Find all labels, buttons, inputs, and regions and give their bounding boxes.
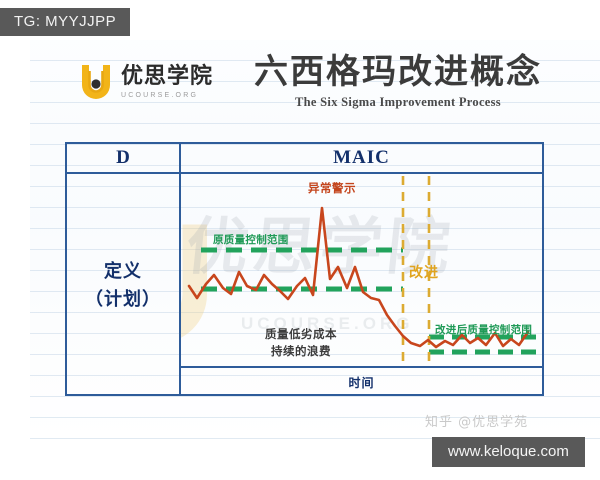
page-title: 六西格玛改进概念 (238, 54, 558, 91)
slide-header: 优思学院 UCOURSE.ORG 六西格玛改进概念 The Six Sigma … (0, 40, 600, 132)
column-header-d: D (67, 144, 181, 172)
column-header-maic: MAIC (181, 144, 542, 172)
define-label-line2: （计划） (85, 285, 161, 311)
annotation-abnormal-alert: 异常警示 (308, 180, 356, 196)
chart-body-row: 定义 （计划） 优思学院 UCOURSE.ORG (67, 174, 542, 394)
annotation-improved-control-range: 改进后质量控制范围 (435, 322, 532, 337)
six-sigma-chart: D MAIC 定义 （计划） 优思学院 UCOURSE.ORG (65, 142, 544, 396)
annotation-original-control-range: 原质量控制范围 (213, 232, 289, 247)
annotation-poor-quality-cost-line1: 质量低劣成本 (265, 326, 337, 343)
brand-logo: 优思学院 UCOURSE.ORG (78, 62, 213, 102)
annotation-poor-quality-cost: 质量低劣成本 持续的浪费 (265, 326, 337, 359)
tg-watermark-banner: TG: MYYJJPP (0, 8, 130, 36)
define-label-line1: 定义 (104, 257, 142, 283)
title-block: 六西格玛改进概念 The Six Sigma Improvement Proce… (238, 54, 558, 110)
site-watermark-banner: www.keloque.com (432, 437, 585, 467)
ucourse-u-logo-icon (78, 62, 114, 102)
x-axis-label: 时间 (181, 374, 542, 391)
plot-area: 优思学院 UCOURSE.ORG 时间 (181, 174, 542, 394)
page-subtitle: The Six Sigma Improvement Process (238, 95, 558, 110)
zhihu-credit: 知乎 @优思学苑 (425, 411, 528, 430)
brand-logo-text: 优思学院 UCOURSE.ORG (121, 66, 213, 99)
define-column: 定义 （计划） (67, 174, 181, 394)
annotation-poor-quality-cost-line2: 持续的浪费 (265, 343, 337, 360)
annotation-improvement: 改进 (409, 262, 439, 282)
plot-svg (181, 174, 540, 392)
x-axis-line (181, 366, 542, 368)
brand-name-cn: 优思学院 (121, 66, 213, 88)
brand-name-en: UCOURSE.ORG (121, 92, 213, 99)
slide-canvas: 优思学院 UCOURSE.ORG 六西格玛改进概念 The Six Sigma … (0, 40, 600, 440)
chart-header-row: D MAIC (67, 144, 542, 174)
